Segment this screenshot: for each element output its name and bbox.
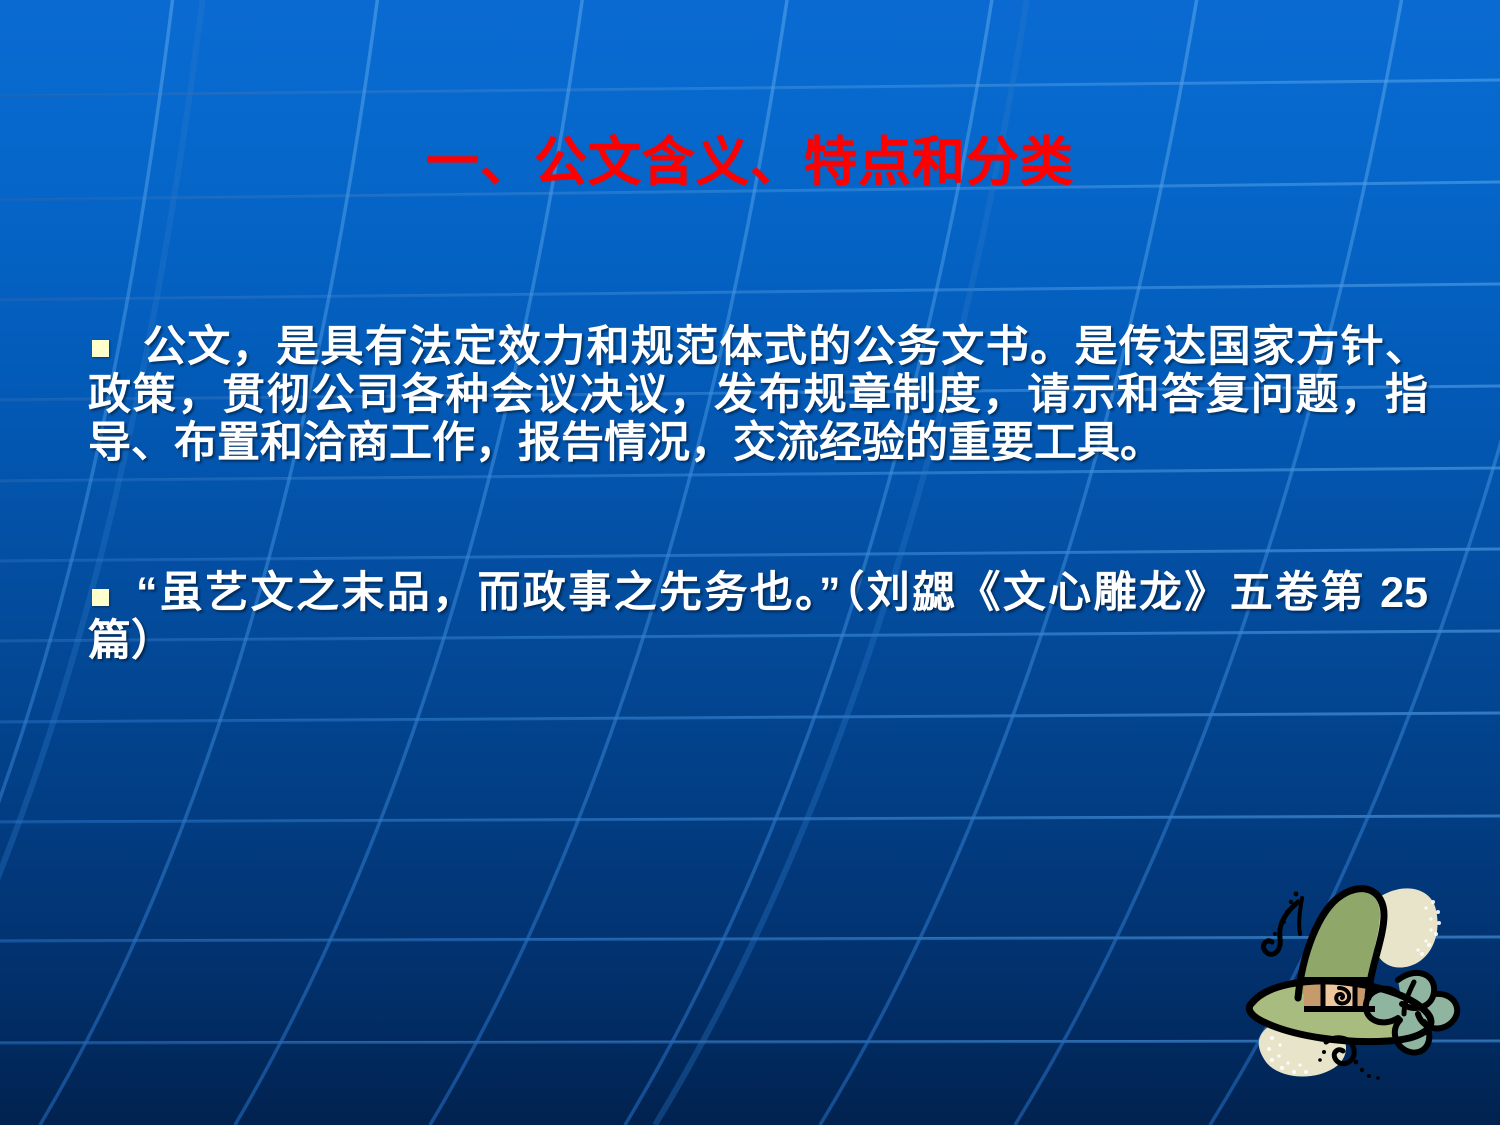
paragraph-1-text: 公文，是具有法定效力和规范体式的公务文书。是传达国家方针、政策，贯彻公司各种会议… xyxy=(88,323,1428,467)
page-title: 一、公文含义、特点和分类 xyxy=(0,134,1500,192)
content-body: 公文，是具有法定效力和规范体式的公务文书。是传达国家方针、政策，贯彻公司各种会议… xyxy=(88,280,1428,708)
paragraph-2-text: “虽艺文之末品，而政事之先务也。”（刘勰《文心雕龙》五卷第 25 篇） xyxy=(88,569,1428,665)
square-bullet-icon xyxy=(92,589,109,606)
slide: 一、公文含义、特点和分类 公文，是具有法定效力和规范体式的公务文书。是传达国家方… xyxy=(0,0,1500,1125)
bullet-paragraph-1: 公文，是具有法定效力和规范体式的公务文书。是传达国家方针、政策，贯彻公司各种会议… xyxy=(88,323,1428,467)
bullet-paragraph-2: “虽艺文之末品，而政事之先务也。”（刘勰《文心雕龙》五卷第 25 篇） xyxy=(88,569,1428,665)
square-bullet-icon xyxy=(92,340,109,357)
leprechaun-hat-and-shamrock-clipart xyxy=(1238,862,1496,1112)
